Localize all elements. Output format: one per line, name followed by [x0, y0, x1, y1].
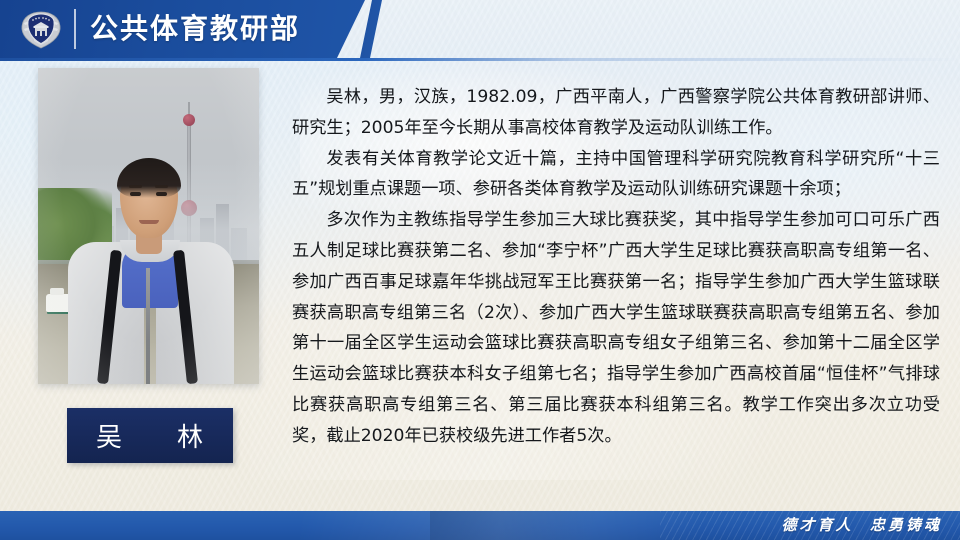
profile-name: 吴 林 — [96, 417, 204, 454]
school-badge-icon — [18, 6, 64, 52]
photo-vignette — [38, 68, 259, 384]
biography-text: 吴林，男，汉族，1982.09，广西平南人，广西警察学院公共体育教研部讲师、研究… — [292, 82, 940, 452]
name-plate: 吴 林 — [67, 408, 233, 463]
slide-root: 公共体育教研部 — [0, 0, 960, 540]
footer-sheen — [300, 511, 700, 540]
profile-photo — [38, 68, 259, 384]
header-underline — [0, 58, 960, 61]
footer-bar: 德才育人 忠勇铸魂 — [0, 511, 960, 540]
header-title: 公共体育教研部 — [90, 0, 300, 58]
header-bar: 公共体育教研部 — [0, 0, 960, 58]
profile-photo-frame — [38, 68, 259, 384]
header-divider — [74, 9, 76, 49]
biography-paragraph-3: 多次作为主教练指导学生参加三大球比赛获奖，其中指导学生参加可口可乐广西五人制足球… — [292, 205, 940, 451]
biography-paragraph-2: 发表有关体育教学论文近十篇，主持中国管理科学研究院教育科学研究所“十三五”规划重… — [292, 144, 940, 206]
biography-paragraph-1: 吴林，男，汉族，1982.09，广西平南人，广西警察学院公共体育教研部讲师、研究… — [292, 82, 940, 144]
footer-motto: 德才育人 忠勇铸魂 — [782, 511, 942, 540]
